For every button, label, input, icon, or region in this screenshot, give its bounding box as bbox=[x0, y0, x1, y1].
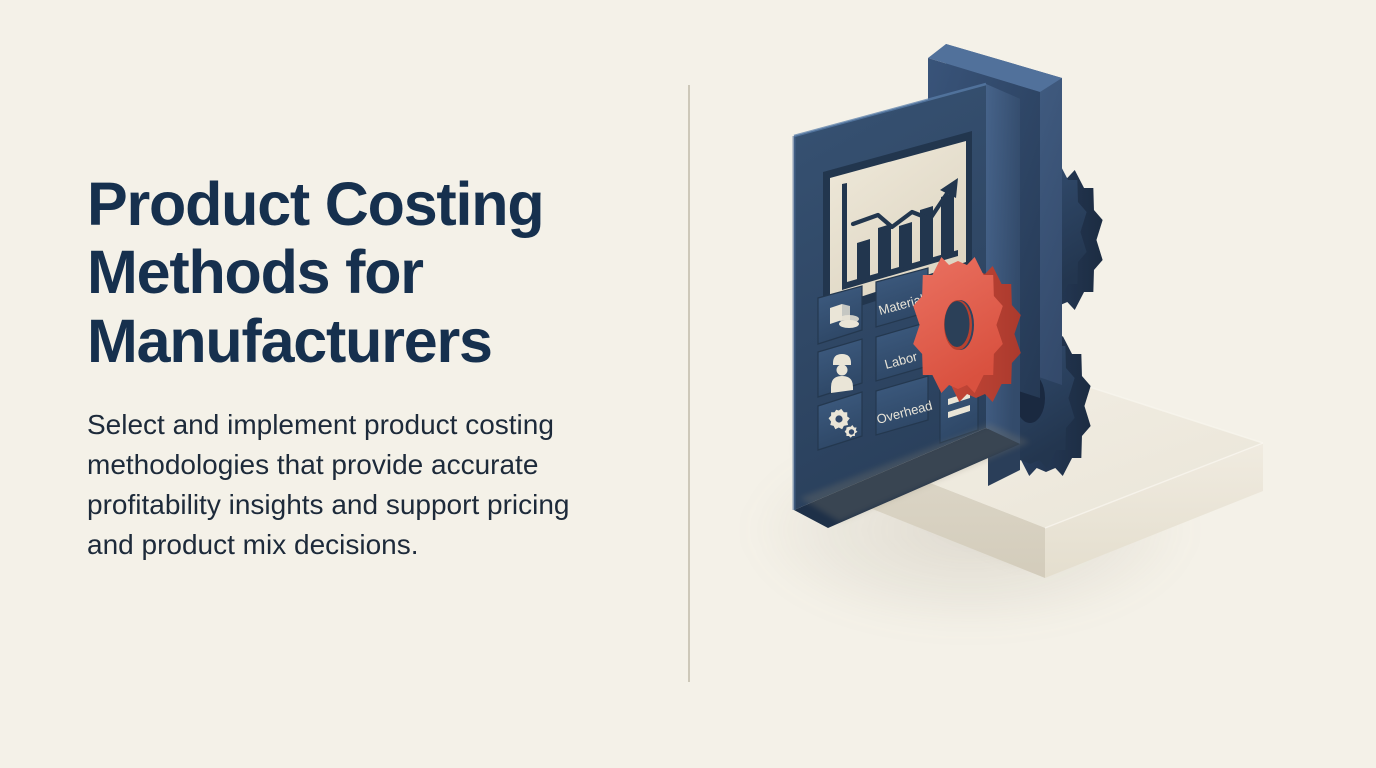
page-title: Product Costing Methods for Manufacturer… bbox=[87, 170, 617, 375]
illustration-panel: Material Labor Overhead bbox=[690, 0, 1376, 768]
calculator-illustration: Material Labor Overhead bbox=[690, 0, 1376, 768]
text-panel: Product Costing Methods for Manufacturer… bbox=[87, 170, 627, 565]
slide-root: Product Costing Methods for Manufacturer… bbox=[0, 0, 1376, 768]
page-subtitle: Select and implement product costing met… bbox=[87, 405, 592, 565]
